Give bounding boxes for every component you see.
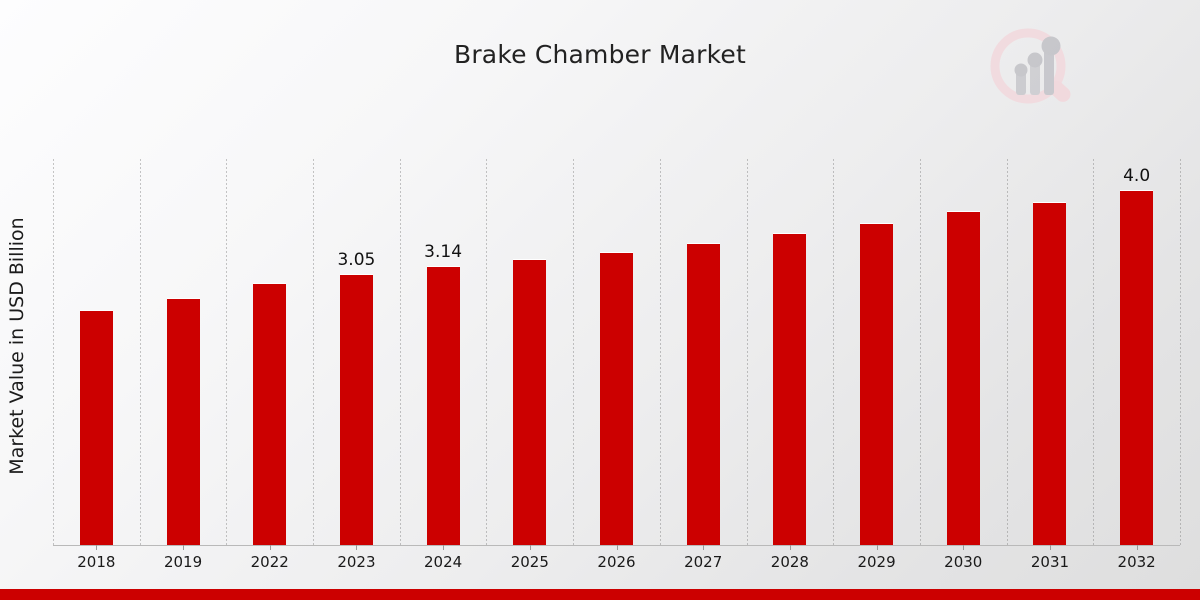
bar-value-label: 3.05: [321, 250, 391, 270]
x-axis-tick-label: 2022: [235, 553, 305, 571]
bar[interactable]: [600, 252, 633, 545]
bar[interactable]: [167, 298, 200, 545]
bar[interactable]: [947, 211, 980, 545]
bar-value-label: 3.14: [408, 242, 478, 262]
x-axis-tick: [703, 545, 704, 550]
gridline: [660, 159, 661, 545]
bar[interactable]: [513, 259, 546, 545]
x-axis-tick: [530, 545, 531, 550]
x-axis-tick: [617, 545, 618, 550]
x-axis-tick-label: 2018: [61, 553, 131, 571]
gridline: [833, 159, 834, 545]
bar[interactable]: [80, 310, 113, 545]
plot-area: 3.053.144.0: [53, 159, 1180, 545]
x-axis-tick-label: 2031: [1015, 553, 1085, 571]
gridline: [53, 159, 54, 545]
bar[interactable]: [687, 243, 720, 545]
gridline: [1007, 159, 1008, 545]
bar[interactable]: [340, 274, 373, 545]
x-axis-tick-label: 2029: [842, 553, 912, 571]
gridline: [747, 159, 748, 545]
gridline: [486, 159, 487, 545]
brand-watermark-logo: [978, 24, 1084, 116]
x-axis-tick: [790, 545, 791, 550]
bar[interactable]: [1120, 190, 1153, 545]
x-axis-tick-label: 2023: [321, 553, 391, 571]
gridline: [313, 159, 314, 545]
x-axis-tick: [1050, 545, 1051, 550]
x-axis-tick: [356, 545, 357, 550]
bar[interactable]: [860, 223, 893, 545]
chart-title: Brake Chamber Market: [0, 40, 1200, 69]
gridline: [573, 159, 574, 545]
x-axis-tick: [183, 545, 184, 550]
x-axis-tick-label: 2024: [408, 553, 478, 571]
x-axis-tick-label: 2027: [668, 553, 738, 571]
chart-canvas: Brake Chamber Market Market Value in USD…: [0, 0, 1200, 600]
x-axis-tick-label: 2028: [755, 553, 825, 571]
x-axis-tick: [270, 545, 271, 550]
gridline: [226, 159, 227, 545]
x-axis-tick: [443, 545, 444, 550]
gridline: [920, 159, 921, 545]
bar[interactable]: [253, 283, 286, 545]
x-axis-tick: [963, 545, 964, 550]
y-axis-title-wrapper: Market Value in USD Billion: [0, 159, 34, 545]
bar[interactable]: [773, 233, 806, 545]
bar[interactable]: [427, 266, 460, 545]
x-axis-tick: [96, 545, 97, 550]
gridline: [400, 159, 401, 545]
gridline: [1180, 159, 1181, 545]
x-axis-tick: [877, 545, 878, 550]
x-axis-tick-label: 2030: [928, 553, 998, 571]
y-axis-title: Market Value in USD Billion: [6, 153, 28, 539]
x-axis-tick-label: 2032: [1102, 553, 1172, 571]
x-axis-tick-label: 2026: [582, 553, 652, 571]
x-axis-tick-label: 2019: [148, 553, 218, 571]
red-footer-bar: [0, 589, 1200, 600]
x-axis-tick: [1137, 545, 1138, 550]
gridline: [1093, 159, 1094, 545]
bar[interactable]: [1033, 202, 1066, 545]
x-axis-tick-label: 2025: [495, 553, 565, 571]
bar-value-label: 4.0: [1102, 166, 1172, 186]
gridline: [140, 159, 141, 545]
